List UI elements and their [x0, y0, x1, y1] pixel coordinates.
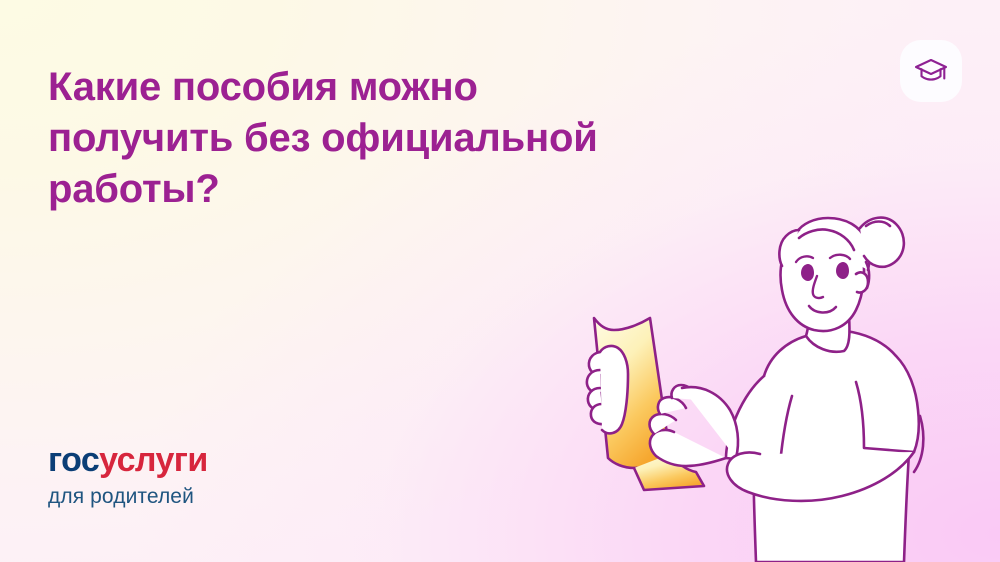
logo-wordmark: госуслуги — [48, 443, 208, 477]
logo-word-part-2: услуги — [99, 441, 208, 479]
gosuslugi-logo: госуслуги для родителей — [48, 443, 208, 507]
banner: Какие пособия можно получить без официал… — [0, 0, 1000, 562]
logo-subtitle: для родителей — [48, 486, 208, 507]
graduation-cap-icon — [914, 57, 948, 85]
woman-reading-document-illustration — [574, 166, 1000, 562]
logo-word-part-1: гос — [48, 441, 99, 479]
graduation-cap-badge[interactable] — [900, 40, 962, 102]
